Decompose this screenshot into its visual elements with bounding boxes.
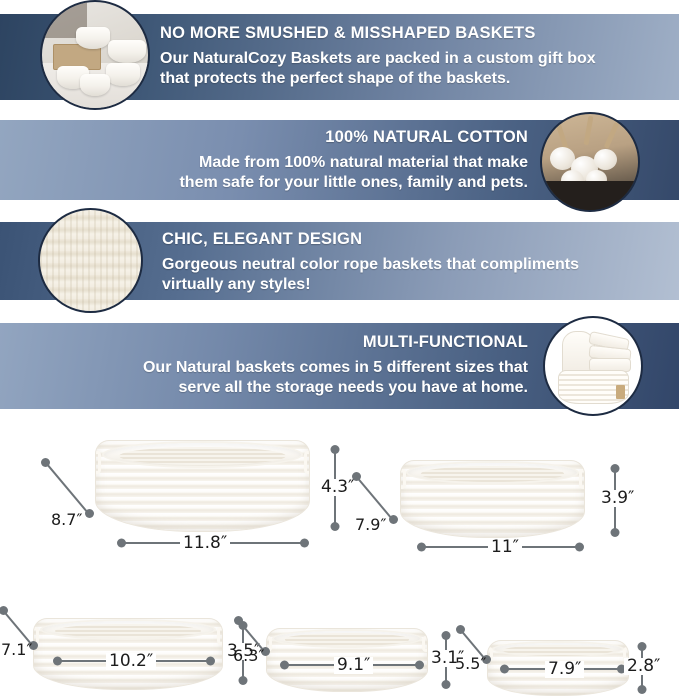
basket-illustration	[95, 440, 310, 532]
dimension-endpoint	[300, 539, 309, 548]
dimension-endpoint	[234, 616, 243, 625]
dimension-endpoint	[41, 458, 50, 467]
dried-stem	[584, 116, 594, 145]
dimension-endpoint	[389, 515, 398, 524]
dimension-endpoint	[611, 528, 620, 537]
basket-5-depth-label: 5.5″	[452, 656, 489, 672]
dimension-line	[45, 462, 89, 514]
banner-body: Our Natural baskets comes in 5 different…	[18, 358, 528, 399]
banner-text-block: CHIC, ELEGANT DESIGN Gorgeous neutral co…	[162, 230, 662, 296]
banner-body-line-2: that protects the perfect shape of the b…	[160, 69, 660, 89]
basket-diagram-1	[95, 440, 310, 540]
banner-body-line-2: serve all the storage needs you have at …	[18, 378, 528, 398]
basket-1-height-label: 4.3″	[318, 479, 357, 496]
banner-heading: MULTI-FUNCTIONAL	[18, 333, 528, 352]
basket-2-depth-dimension	[392, 518, 402, 528]
banner-body: Made from 100% natural material that mak…	[20, 153, 528, 194]
dimension-endpoint	[575, 543, 584, 552]
basket-interior	[421, 466, 564, 481]
basket-3-width-label: 10.2″	[106, 653, 156, 670]
dried-stem	[604, 122, 619, 149]
basket-2-height-label: 3.9″	[598, 490, 637, 507]
basket-1-depth-label: 8.7″	[48, 512, 85, 528]
basket-2-width-label: 11″	[488, 539, 522, 556]
banner-body: Our NaturalCozy Baskets are packed in a …	[160, 49, 660, 90]
dimension-endpoint	[638, 642, 647, 651]
dimension-endpoint	[85, 509, 94, 518]
gift-box-with-baskets-photo	[40, 0, 150, 110]
basket-illustration	[400, 460, 585, 538]
basket-4-width-label: 9.1″	[334, 657, 373, 674]
banner-body-line-1: Gorgeous neutral color rope baskets that…	[162, 255, 662, 275]
basket-handle-left	[400, 469, 406, 489]
basket-photo-item	[76, 27, 110, 48]
dimension-endpoint	[415, 661, 424, 670]
dimension-endpoint	[53, 657, 62, 666]
banner-body-line-1: Made from 100% natural material that mak…	[20, 153, 528, 173]
dimension-endpoint	[417, 543, 426, 552]
basket-diagram-2	[400, 460, 585, 545]
basket-5-width-label: 7.9″	[545, 661, 584, 678]
dark-vase	[540, 181, 640, 212]
basket-5-height-label: 2.8″	[624, 658, 663, 675]
banner-heading: CHIC, ELEGANT DESIGN	[162, 230, 662, 249]
dimension-endpoint	[442, 631, 451, 640]
dimension-endpoint	[331, 445, 340, 454]
brand-tag	[616, 385, 625, 398]
banner-body: Gorgeous neutral color rope baskets that…	[162, 255, 662, 296]
dimension-endpoint	[500, 665, 509, 674]
dimension-endpoint	[456, 625, 465, 634]
banner-text-block: 100% NATURAL COTTON Made from 100% natur…	[20, 128, 528, 194]
dimension-line	[355, 475, 393, 519]
basket-interior	[55, 624, 202, 638]
basket-3-depth-label: 7.1″	[0, 642, 35, 658]
dimension-endpoint	[611, 464, 620, 473]
basket-1-depth-dimension	[88, 512, 98, 522]
basket-photo-item	[108, 40, 146, 63]
basket-photo-item	[106, 63, 140, 85]
banner-heading: NO MORE SMUSHED & MISSHAPED BASKETS	[160, 24, 660, 43]
basket-1-width-label: 11.8″	[180, 535, 230, 552]
basket-photo-item	[80, 74, 110, 96]
stacked-baskets-photo	[543, 316, 643, 416]
basket-2-depth-label: 7.9″	[352, 517, 389, 533]
dimension-endpoint	[352, 472, 361, 481]
dimension-endpoint	[442, 680, 451, 689]
banner-text-block: NO MORE SMUSHED & MISSHAPED BASKETS Our …	[160, 24, 660, 90]
banner-body-line-1: Our NaturalCozy Baskets are packed in a …	[160, 49, 660, 69]
basket-handle-right	[579, 469, 585, 489]
basket-interior	[503, 645, 612, 656]
dimension-endpoint	[280, 661, 289, 670]
basket-interior	[285, 633, 410, 645]
cotton-bolls-photo	[540, 112, 640, 212]
banner-body-line-1: Our Natural baskets comes in 5 different…	[18, 358, 528, 378]
dimension-endpoint	[239, 676, 248, 685]
banner-body-line-2: them safe for your little ones, family a…	[20, 173, 528, 193]
cotton-boll	[594, 149, 617, 170]
dimension-endpoint	[117, 539, 126, 548]
basket-4-depth-label: 6.3″	[230, 648, 267, 664]
basket-handle-left	[95, 451, 101, 474]
banner-body-line-2: virtually any styles!	[162, 275, 662, 295]
dimension-endpoint	[331, 522, 340, 531]
basket-handle-right	[217, 627, 223, 645]
banner-heading: 100% NATURAL COTTON	[20, 128, 528, 147]
dimension-endpoint	[206, 657, 215, 666]
dried-stem	[554, 118, 569, 151]
rope-texture-photo	[38, 208, 143, 313]
banner-text-block: MULTI-FUNCTIONAL Our Natural baskets com…	[18, 333, 528, 399]
basket-handle-right	[304, 451, 310, 474]
dimension-endpoint	[638, 685, 647, 694]
